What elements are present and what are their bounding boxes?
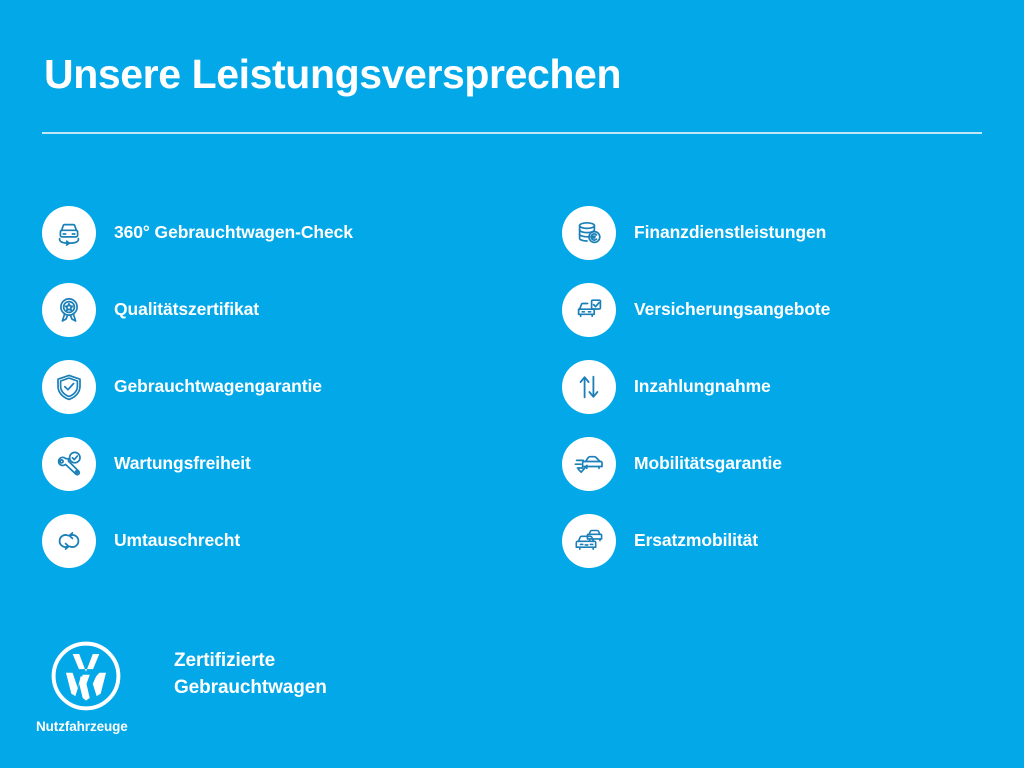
- feature-label: 360° Gebrauchtwagen-Check: [114, 222, 353, 243]
- award-rosette-star-icon: [42, 283, 96, 337]
- exchange-arrows-icon: [42, 514, 96, 568]
- page-title: Unsere Leistungsversprechen: [44, 52, 621, 97]
- feature-label: Qualitätszertifikat: [114, 299, 259, 320]
- volkswagen-logo: [50, 640, 122, 712]
- slide-canvas: { "slide": { "background_color": "#02a8e…: [0, 0, 1024, 768]
- feature-list: 360° Gebrauchtwagen-Check Finanzdienstle…: [42, 194, 982, 579]
- feature-item-finanzdienstleistungen[interactable]: Finanzdienstleistungen: [562, 194, 982, 271]
- feature-item-gebrauchtwagen-check[interactable]: 360° Gebrauchtwagen-Check: [42, 194, 562, 271]
- brand-claim-line-2: Gebrauchtwagen: [174, 675, 327, 700]
- feature-item-wartungsfreiheit[interactable]: Wartungsfreiheit: [42, 425, 562, 502]
- feature-item-ersatzmobilitaet[interactable]: Ersatzmobilität: [562, 502, 982, 579]
- two-cars-icon: [562, 514, 616, 568]
- title-divider: [42, 132, 982, 134]
- shield-check-icon: [42, 360, 96, 414]
- brand-mark: Nutzfahrzeuge: [36, 636, 146, 734]
- feature-label: Versicherungsangebote: [634, 299, 830, 320]
- feature-item-inzahlungnahme[interactable]: Inzahlungnahme: [562, 348, 982, 425]
- feature-item-umtauschrecht[interactable]: Umtauschrecht: [42, 502, 562, 579]
- arrows-up-down-icon: [562, 360, 616, 414]
- wrench-screwdriver-check-icon: [42, 437, 96, 491]
- feature-label: Finanzdienstleistungen: [634, 222, 826, 243]
- feature-label: Wartungsfreiheit: [114, 453, 251, 474]
- feature-label: Umtauschrecht: [114, 530, 240, 551]
- coins-euro-icon: [562, 206, 616, 260]
- brand-claim-line-1: Zertifizierte: [174, 648, 327, 673]
- feature-label: Mobilitätsgarantie: [634, 453, 782, 474]
- feature-item-qualitaetszertifikat[interactable]: Qualitätszertifikat: [42, 271, 562, 348]
- car-checkbox-icon: [562, 283, 616, 337]
- feature-label: Ersatzmobilität: [634, 530, 758, 551]
- feature-item-gebrauchtwagengarantie[interactable]: Gebrauchtwagengarantie: [42, 348, 562, 425]
- car-360-rotate-icon: [42, 206, 96, 260]
- feature-label: Inzahlungnahme: [634, 376, 771, 397]
- brand-lockup: Nutzfahrzeuge Zertifizierte Gebrauchtwag…: [36, 636, 327, 734]
- car-motion-lines-icon: [562, 437, 616, 491]
- brand-sub-label: Nutzfahrzeuge: [36, 719, 146, 734]
- feature-item-versicherungsangebote[interactable]: Versicherungsangebote: [562, 271, 982, 348]
- feature-item-mobilitaetsgarantie[interactable]: Mobilitätsgarantie: [562, 425, 982, 502]
- feature-label: Gebrauchtwagengarantie: [114, 376, 322, 397]
- brand-claim: Zertifizierte Gebrauchtwagen: [174, 636, 327, 700]
